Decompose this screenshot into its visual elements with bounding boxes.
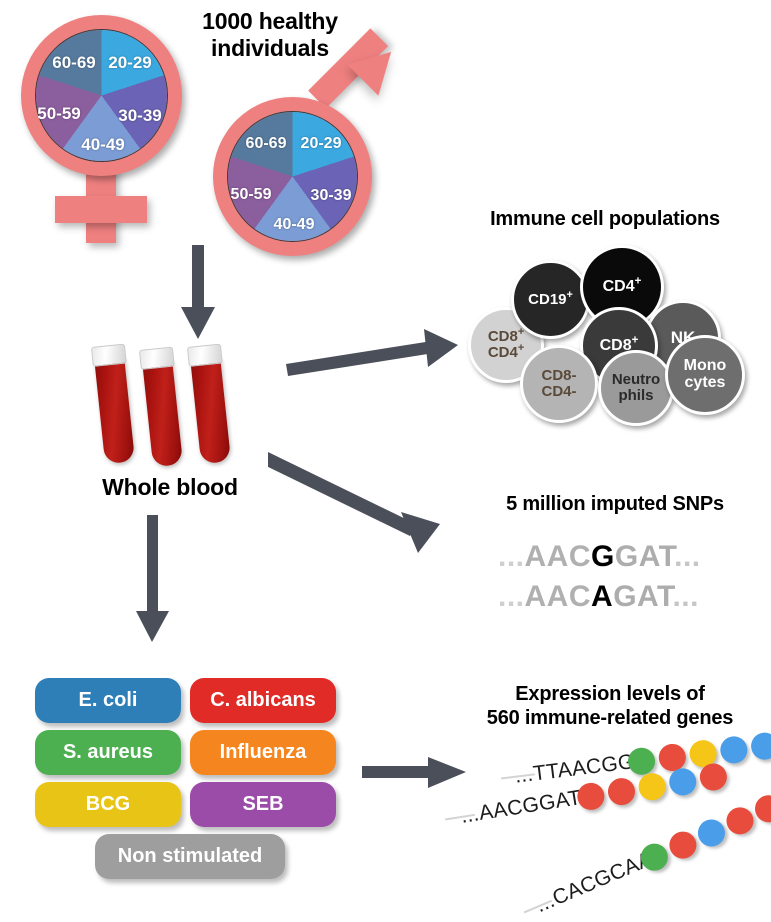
figure-canvas: 1000 healthy individuals 20-29 30-39 40-… <box>0 0 771 922</box>
snp-prefix-1: AAC <box>525 540 592 573</box>
immune-cell-label: CD8-CD4- <box>541 368 576 400</box>
tube-blood-fill <box>190 357 231 465</box>
immune-cell-label: CD19+ <box>528 292 573 308</box>
arrow-blood-to-immune-cells <box>286 326 461 386</box>
male-pie-label-40-49: 40-49 <box>274 216 315 234</box>
stimulus-seb[interactable]: SEB <box>190 782 336 827</box>
whole-blood-tubes <box>95 335 245 465</box>
immune-cell-cd8n-cd4n: CD8-CD4- <box>520 345 598 423</box>
tube-blood-fill <box>94 357 135 465</box>
snp-allele-1: ...AACGGAT... <box>498 540 701 574</box>
gene-sequence-2: ...AACGGAT <box>459 786 583 829</box>
snp-title: 5 million imputed SNPs <box>470 493 760 517</box>
female-pie-label-50-59: 50-59 <box>37 104 80 124</box>
snp-ellipsis-left: ... <box>498 540 525 573</box>
snp-ellipsis-right: ... <box>672 580 699 613</box>
gene-sequence-3: ...CACGCAA <box>532 847 656 918</box>
expression-strands: ...TTAACGG ...AACGGAT ...CACGCAA <box>455 740 765 915</box>
arrow-cohort-to-blood <box>175 245 225 345</box>
tube-blood-fill <box>142 360 183 468</box>
gene-bead <box>667 766 698 797</box>
expression-title-line2: 560 immune-related genes <box>455 707 765 731</box>
snp-prefix-2: AAC <box>525 580 592 613</box>
tube-neck <box>139 347 175 370</box>
female-symbol: 20-29 30-39 40-49 50-59 60-69 <box>8 10 203 245</box>
gene-bead <box>694 815 729 850</box>
expression-title-line1: Expression levels of <box>455 683 765 707</box>
blood-tube <box>187 344 233 465</box>
gene-bead <box>719 735 749 765</box>
male-pie-label-50-59: 50-59 <box>231 186 272 204</box>
gene-bead <box>698 762 729 793</box>
immune-cell-neutrophils: Neutrophils <box>598 350 674 426</box>
immune-cell-label: Neutrophils <box>612 372 660 404</box>
stimulus-influenza[interactable]: Influenza <box>190 730 336 775</box>
female-pie-label-20-29: 20-29 <box>108 53 151 73</box>
snp-allele-2: ...AACAGAT... <box>498 580 699 614</box>
female-pie-label-40-49: 40-49 <box>81 135 124 155</box>
snp-ellipsis-right: ... <box>674 540 701 573</box>
immune-cell-label: Monocytes <box>684 358 727 392</box>
blood-tube <box>91 344 137 465</box>
snp-suffix-2: GAT <box>613 580 672 613</box>
gene-bead <box>722 803 757 838</box>
stimuli-panel: E. coli C. albicans S. aureus Influenza … <box>35 678 345 893</box>
tube-neck <box>91 344 127 367</box>
stimulus-c-albicans[interactable]: C. albicans <box>190 678 336 723</box>
arrow-blood-to-snps <box>268 452 460 557</box>
male-pie-label-60-69: 60-69 <box>246 135 287 153</box>
immune-cell-label: CD4+ <box>603 279 642 296</box>
stimulus-bcg[interactable]: BCG <box>35 782 181 827</box>
tube-neck <box>187 344 223 367</box>
immune-cell-cd19p: CD19+ <box>511 260 590 339</box>
immune-cell-label: CD8+CD4+ <box>488 329 524 361</box>
snp-variant-1: G <box>591 540 615 573</box>
snp-ellipsis-left: ... <box>498 580 525 613</box>
gene-bead <box>637 771 668 802</box>
stimulus-s-aureus[interactable]: S. aureus <box>35 730 181 775</box>
immune-cell-monocytes: Monocytes <box>665 335 745 415</box>
male-symbol: 20-29 30-39 40-49 50-59 60-69 <box>195 40 425 255</box>
blood-tube <box>139 347 185 468</box>
stimulus-non-stimulated[interactable]: Non stimulated <box>95 834 285 879</box>
arrow-blood-to-stimuli <box>130 515 180 645</box>
whole-blood-label: Whole blood <box>70 474 270 501</box>
snp-variant-2: A <box>591 580 613 613</box>
immune-cells-title: Immune cell populations <box>450 208 760 232</box>
male-pie-label-30-39: 30-39 <box>311 187 352 205</box>
expression-title: Expression levels of 560 immune-related … <box>455 683 765 730</box>
snp-suffix-1: GAT <box>615 540 674 573</box>
male-pie-label-20-29: 20-29 <box>301 135 342 153</box>
gene-bead <box>606 776 637 807</box>
immune-cells-cluster: CD8+CD4+ CD19+ CD4+ NK CD8+ CD8-CD4- Neu… <box>455 240 755 420</box>
gene-bead <box>665 827 700 862</box>
female-stem-cross <box>55 196 147 223</box>
stimulus-e-coli[interactable]: E. coli <box>35 678 181 723</box>
female-pie-label-60-69: 60-69 <box>52 53 95 73</box>
female-pie-label-30-39: 30-39 <box>118 106 161 126</box>
gene-bead <box>750 731 771 761</box>
